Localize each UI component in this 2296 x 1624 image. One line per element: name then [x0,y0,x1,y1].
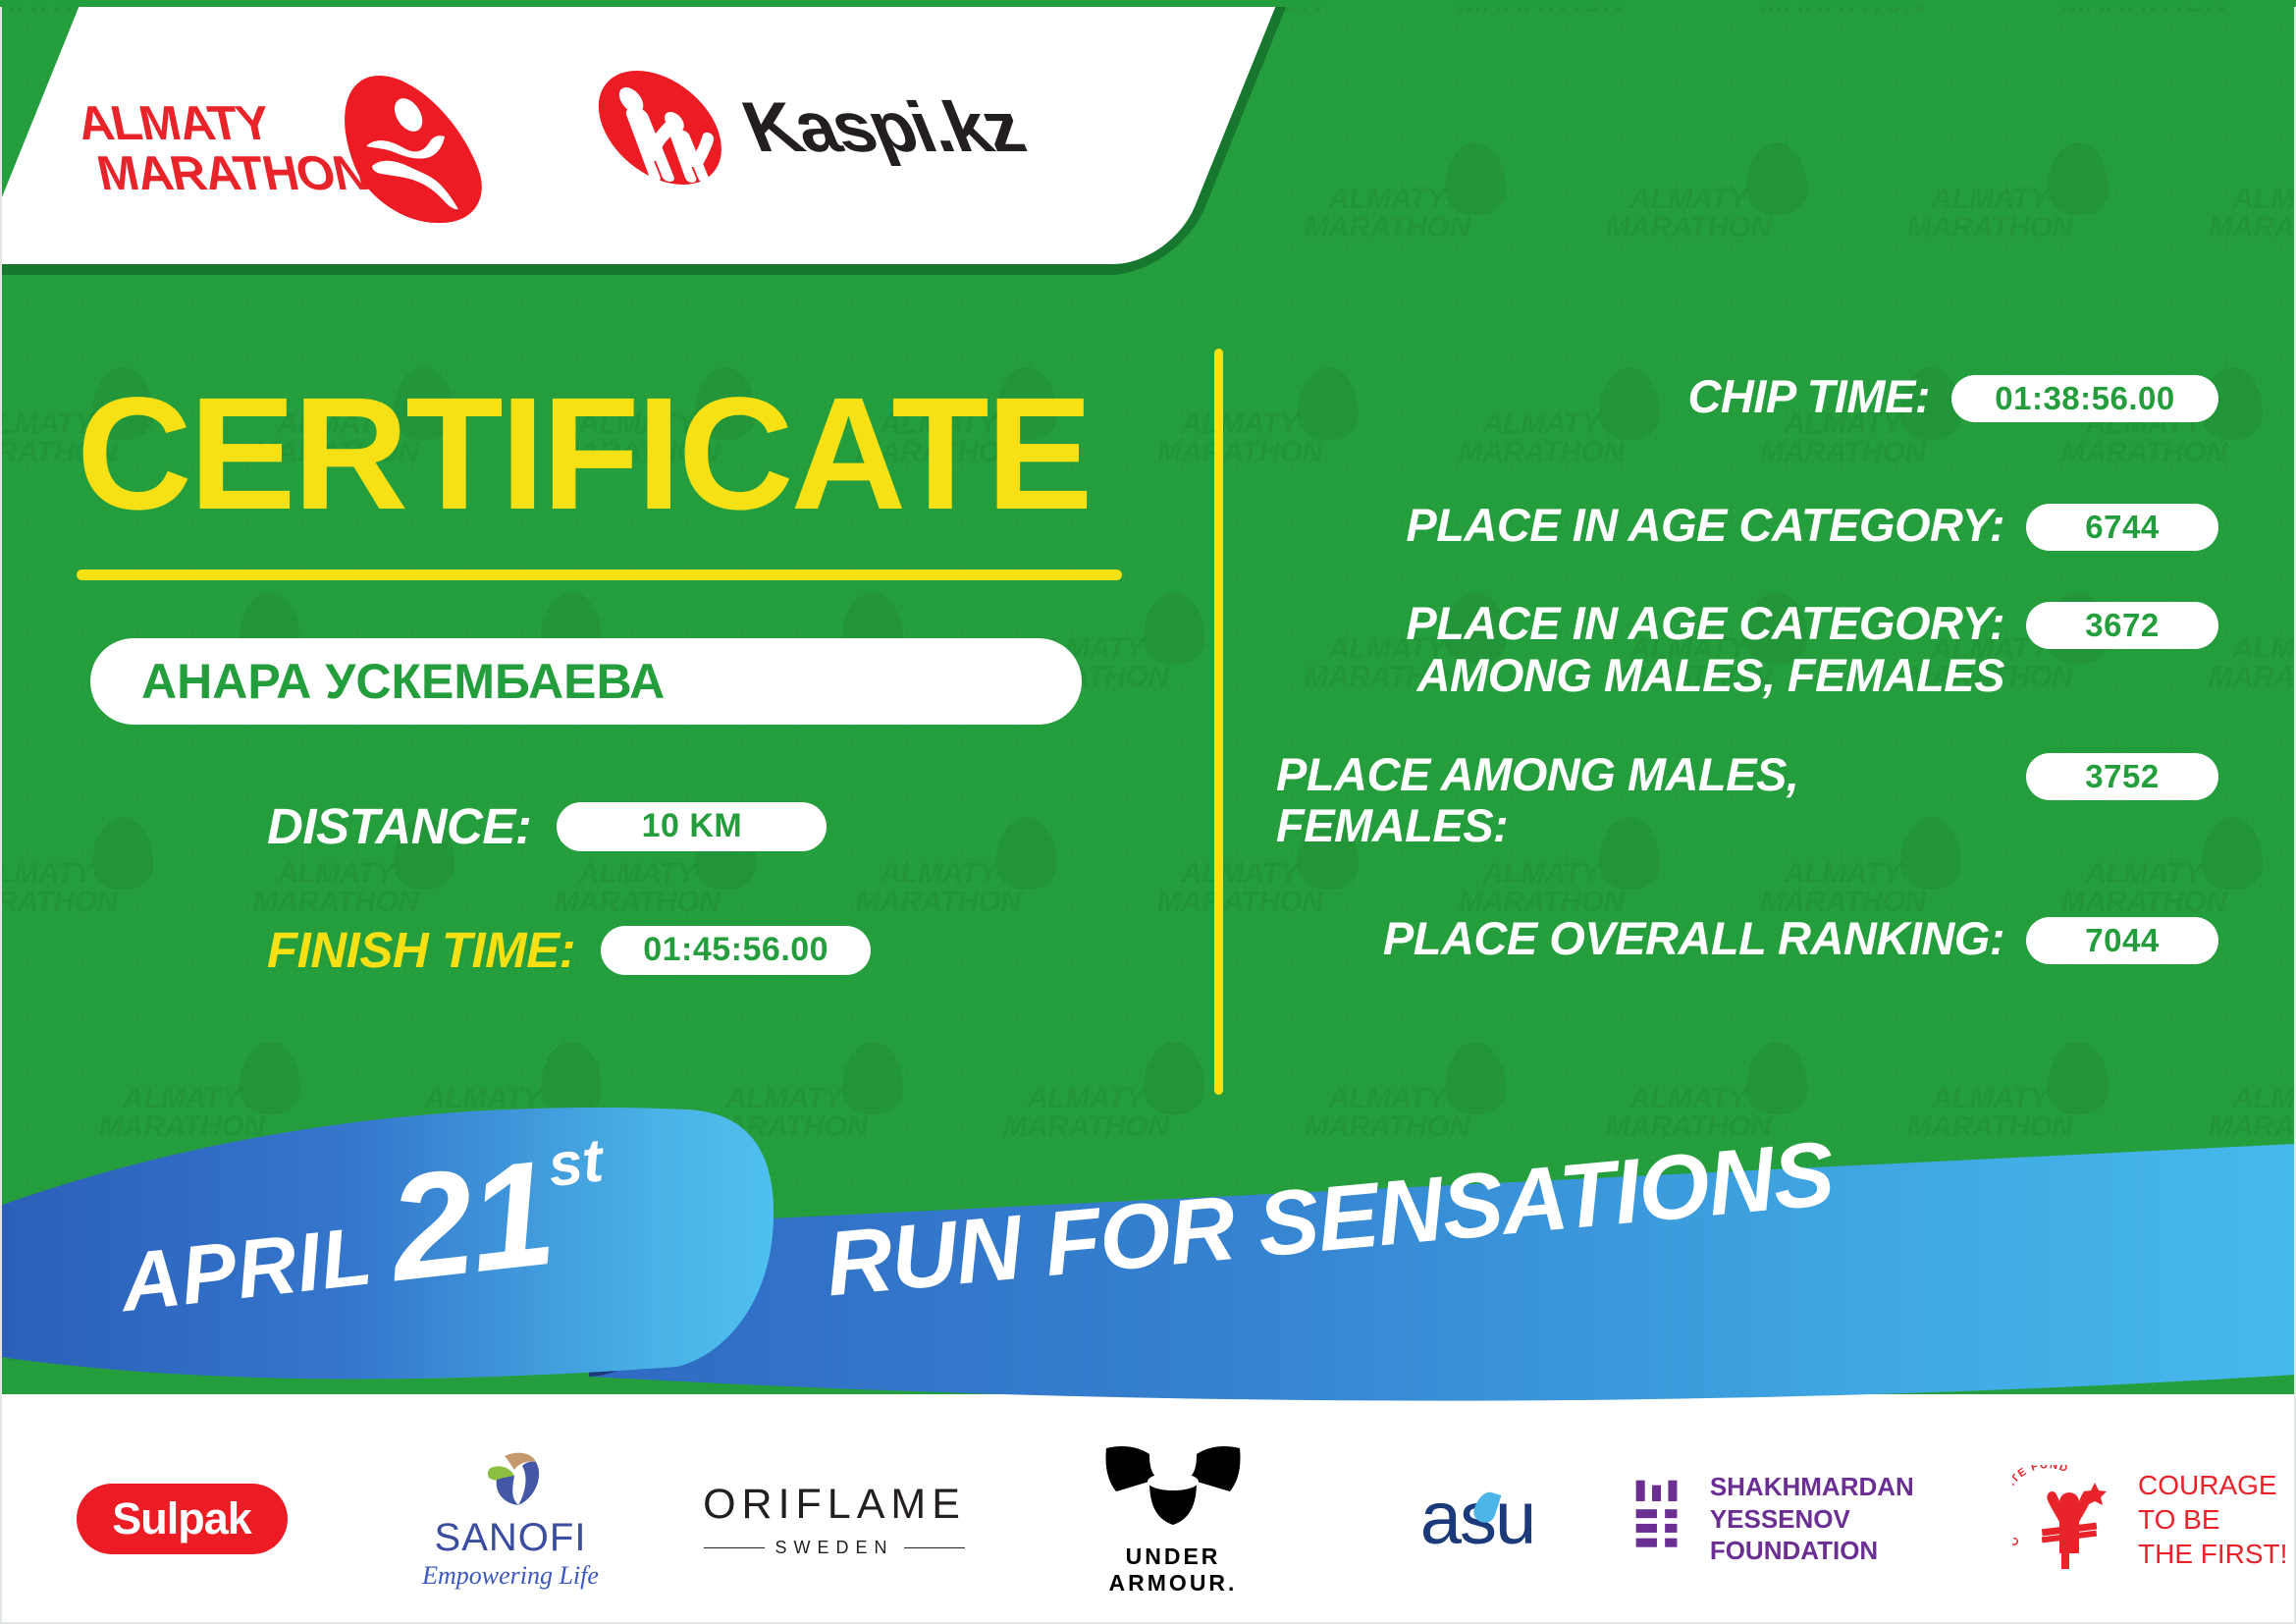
watermark-item: ALMATYMARATHON [0,860,128,916]
shakhmardan-line-1: SHAKHMARDAN YESSENOV [1710,1471,1998,1535]
sponsor-bar: Sulpak SANOFI Empowering Life ORIFLAME [0,1414,2296,1624]
certificate-title: CERTIFICATE [77,373,1090,533]
courage-line-1: COURAGE [2138,1468,2287,1502]
sanofi-tagline: Empowering Life [407,1561,614,1591]
courage-line-2: TO BE [2138,1502,2287,1537]
stat-row: CHIP TIME:01:38:56.00 [1276,371,2218,423]
stat-row: PLACE OVERALL RANKING:7044 [1276,913,2218,965]
divider-left [704,1547,765,1548]
watermark-item: ALMATYMARATHON [1595,186,1782,242]
sulpak-logo: Sulpak [77,1484,288,1554]
watermark-line-2: MARATHON [242,889,429,917]
shakhmardan-logo: SHAKHMARDAN YESSENOV FOUNDATION [1634,1471,1998,1567]
oriflame-subline: SWEDEN [692,1538,977,1558]
certificate-page: ALMATYMARATHONALMATYMARATHONALMATYMARATH… [0,0,2296,1624]
watermark-teardrop-icon [2048,142,2109,215]
stat-label: PLACE IN AGE CATEGORY: [1276,500,2026,552]
stat-row: PLACE IN AGE CATEGORY: AMONG MALES, FEMA… [1276,598,2218,701]
sponsor-courage-fund: CORPORATE FUND COURAGE TO BE THE FIRST! [2012,1445,2296,1593]
stat-value: 01:38:56.00 [1995,380,2174,417]
watermark-teardrop-icon [92,817,153,890]
stat-value: 3672 [2085,607,2159,644]
finish-time-value-pill: 01:45:56.00 [601,926,871,975]
finish-time-value: 01:45:56.00 [643,931,828,969]
divider-right [904,1547,965,1548]
watermark-item: ALMATYMARATHON [1896,186,2083,242]
marathon-line: MARATHON [87,149,378,199]
stat-row: PLACE AMONG MALES, FEMALES:3752 [1276,749,2218,852]
stat-value: 3752 [2085,758,2159,795]
kaspi-logo: Kaspi.kz [574,67,1043,189]
stats-column: CHIP TIME:01:38:56.00PLACE IN AGE CATEGO… [1276,371,2218,964]
shakhmardan-mark-icon [1634,1472,1684,1566]
watermark-item: ALMATYMARATHON [544,860,730,916]
watermark-teardrop-icon [1746,142,1807,215]
title-underline-rule [77,569,1122,580]
stat-value-pill: 7044 [2026,917,2218,964]
vertical-yellow-divider [1214,349,1223,1095]
distance-value-pill: 10 KM [557,802,827,851]
oriflame-wordmark: ORIFLAME [692,1481,977,1529]
distance-row: DISTANCE: 10 KM [267,797,827,855]
watermark-item: ALMATYMARATHON [2198,186,2296,242]
almaty-marathon-logo: ALMATY MARATHON [49,54,433,201]
watermark-line-1: ALMATY [2198,186,2296,214]
event-day: 21 [384,1154,557,1290]
sanofi-wordmark: SANOFI [407,1518,614,1557]
event-day-suffix: st [545,1125,607,1201]
sulpak-wordmark: Sulpak [112,1493,251,1544]
participant-name-value: АНАРА УСКЕМБАЕВА [141,653,665,710]
sponsor-oriflame: ORIFLAME SWEDEN [658,1445,1011,1593]
logo-row: ALMATY MARATHON Kaspi.kz [49,54,1048,201]
under-armour-wordmark: UNDER ARMOUR. [1060,1543,1286,1597]
stat-label: CHIP TIME: [1276,371,1951,423]
courage-line-3: THE FIRST! [2138,1537,2287,1571]
courage-fund-runner-icon: CORPORATE FUND [2012,1465,2122,1573]
shakhmardan-line-2: FOUNDATION [1710,1535,1998,1567]
sponsor-shakhmardan-yessenov: SHAKHMARDAN YESSENOV FOUNDATION [1620,1445,2012,1593]
distance-label: DISTANCE: [267,797,531,855]
stat-value-pill: 3672 [2026,602,2218,649]
kaspi-people-icon [574,67,747,189]
sponsor-asu: asu [1335,1445,1620,1593]
almaty-line: ALMATY [68,99,358,149]
header-content: ALMATY MARATHON Kaspi.kz [0,0,1207,285]
participant-name-field: АНАРА УСКЕМБАЕВА [90,638,1082,725]
stat-label: PLACE OVERALL RANKING: [1276,913,2026,965]
oriflame-logo: ORIFLAME SWEDEN [692,1481,977,1558]
courage-fund-wordmark: COURAGE TO BE THE FIRST! [2138,1468,2287,1571]
sponsor-under-armour: UNDER ARMOUR. [1011,1445,1335,1593]
stat-value-pill: 01:38:56.00 [1951,375,2218,422]
watermark-line-2: MARATHON [544,889,730,917]
almaty-marathon-wordmark: ALMATY MARATHON [68,99,378,199]
stat-value-pill: 6744 [2026,504,2218,551]
top-green-line [0,0,2296,7]
oriflame-country: SWEDEN [774,1538,893,1558]
sponsor-sulpak: Sulpak [0,1445,363,1593]
courage-fund-logo: CORPORATE FUND COURAGE TO BE THE FIRST! [2012,1465,2296,1573]
watermark-line-2: MARATHON [1595,214,1782,243]
under-armour-icon [1095,1442,1252,1531]
stat-value: 7044 [2085,922,2159,959]
watermark-item: ALMATYMARATHON [242,860,429,916]
watermark-line-2: MARATHON [845,889,1032,917]
finish-time-label: FINISH TIME: [267,921,575,979]
kaspi-wordmark: Kaspi.kz [731,87,1035,168]
watermark-item: ALMATYMARATHON [1294,186,1480,242]
stat-value: 6744 [2085,509,2159,546]
sanofi-logo: SANOFI Empowering Life [407,1450,614,1588]
watermark-line-2: MARATHON [1294,214,1480,243]
sponsor-sanofi: SANOFI Empowering Life [363,1445,658,1593]
finish-time-row: FINISH TIME: 01:45:56.00 [267,921,871,979]
watermark-teardrop-icon [996,817,1057,890]
stat-row: PLACE IN AGE CATEGORY:6744 [1276,500,2218,552]
stat-label: PLACE AMONG MALES, FEMALES: [1276,749,2026,852]
watermark-line-2: MARATHON [2198,214,2296,243]
stat-label: PLACE IN AGE CATEGORY: AMONG MALES, FEMA… [1276,598,2026,701]
watermark-line-2: MARATHON [1896,214,2083,243]
watermark-teardrop-icon [1144,592,1204,665]
asu-logo: asu [1379,1482,1575,1556]
sanofi-mark-icon [475,1450,546,1507]
under-armour-logo: UNDER ARMOUR. [1060,1442,1286,1597]
watermark-item: ALMATYMARATHON [845,860,1032,916]
watermark-teardrop-icon [1445,142,1506,215]
distance-value: 10 KM [642,807,743,845]
stat-value-pill: 3752 [2026,753,2218,800]
watermark-line-2: MARATHON [0,889,128,917]
event-ribbon: APRIL 21 st RUN FOR SENSATIONS [0,1090,2296,1414]
shakhmardan-wordmark: SHAKHMARDAN YESSENOV FOUNDATION [1710,1471,1998,1567]
